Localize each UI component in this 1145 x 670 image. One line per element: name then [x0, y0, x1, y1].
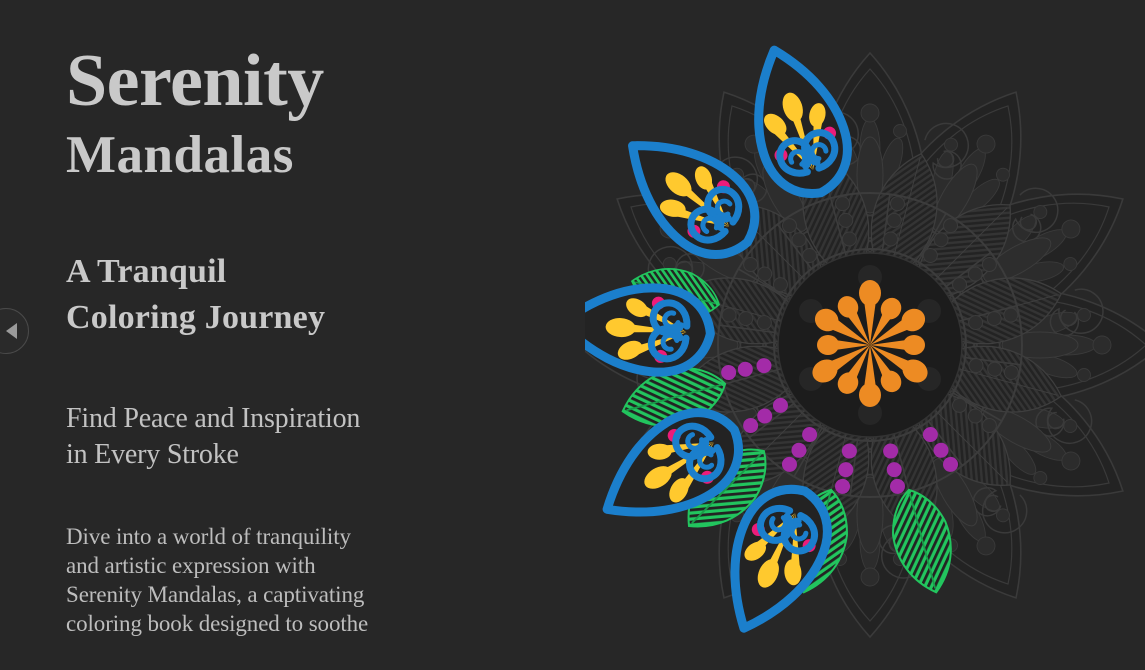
hero-slide: Serenity Mandalas A Tranquil Coloring Jo… — [0, 0, 1145, 670]
tagline: A Tranquil Coloring Journey — [66, 249, 325, 341]
prev-slide-button[interactable] — [0, 308, 29, 354]
body-paragraph: Dive into a world of tranquility and art… — [66, 522, 396, 638]
page-subtitle: Mandalas — [66, 126, 294, 184]
hero-text-column: Serenity Mandalas A Tranquil Coloring Jo… — [66, 0, 536, 670]
tagline-line-1: A Tranquil — [66, 249, 325, 295]
tagline-line-2: Coloring Journey — [66, 295, 325, 341]
body-line-4: coloring book designed to soothe — [66, 609, 396, 638]
subtagline-line-2: in Every Stroke — [66, 437, 360, 473]
triangle-left-icon — [6, 323, 17, 339]
subtagline-line-1: Find Peace and Inspiration — [66, 401, 360, 437]
mandala-illustration — [585, 15, 1145, 645]
mandala-body — [585, 37, 1145, 645]
body-line-3: Serenity Mandalas, a captivating — [66, 580, 396, 609]
page-title: Serenity — [66, 44, 324, 118]
mandala-svg — [585, 15, 1145, 645]
body-line-2: and artistic expression with — [66, 551, 396, 580]
body-line-1: Dive into a world of tranquility — [66, 522, 396, 551]
subtagline: Find Peace and Inspiration in Every Stro… — [66, 401, 360, 473]
